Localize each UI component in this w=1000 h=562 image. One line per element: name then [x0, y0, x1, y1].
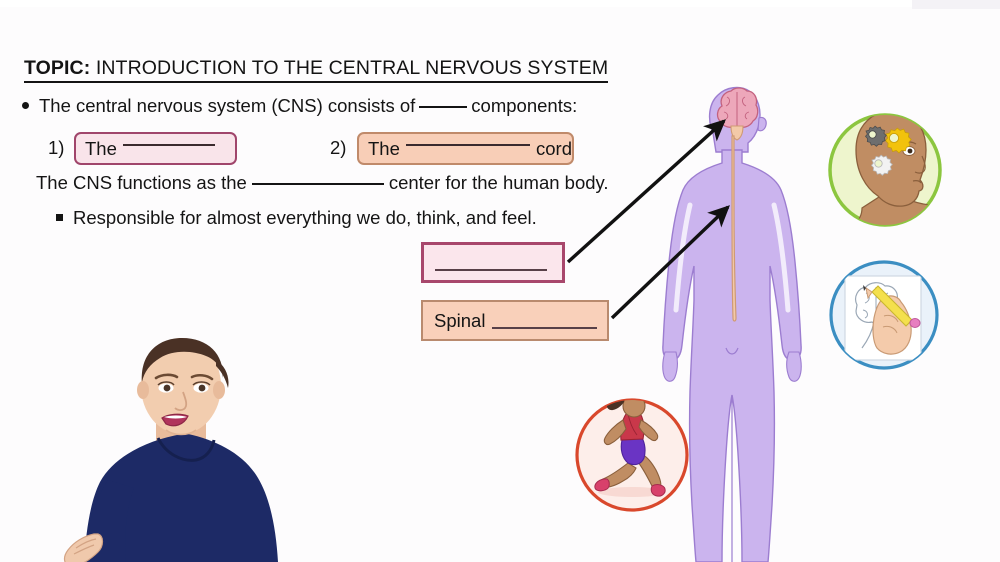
item-2-suffix: cord	[536, 138, 572, 160]
human-body-diagram	[663, 88, 802, 562]
item-1-number: 1)	[48, 137, 64, 159]
bullet-square-icon	[56, 214, 63, 221]
intro-text-before: The central nervous system (CNS) consist…	[39, 95, 415, 116]
instructor-video	[16, 330, 316, 562]
item-2-blank	[406, 144, 530, 146]
responsibility-text: Responsible for almost everything we do,…	[73, 207, 537, 228]
brain-callout-box[interactable]	[421, 242, 565, 283]
intro-bullet-line: The central nervous system (CNS) consist…	[22, 95, 577, 117]
spinal-cord-callout-box[interactable]: Spinal	[421, 300, 609, 341]
function-text-after: center for the human body.	[389, 172, 609, 193]
item-2-prefix: The	[368, 138, 400, 160]
thinking-head-gears-icon	[830, 111, 940, 232]
item-2-number: 2)	[330, 137, 346, 159]
brain-illustration	[718, 88, 758, 140]
page-title: TOPIC: INTRODUCTION TO THE CENTRAL NERVO…	[24, 57, 608, 83]
function-blank	[252, 183, 384, 185]
item-1-answer-box[interactable]: The	[74, 132, 237, 165]
top-white-bar	[0, 0, 1000, 7]
item-2-answer-box[interactable]: Thecord	[357, 132, 574, 165]
topic-title: INTRODUCTION TO THE CENTRAL NERVOUS SYST…	[96, 57, 608, 79]
spinal-callout-label: Spinal	[434, 310, 485, 332]
arrow-to-spinal-cord	[612, 207, 728, 318]
function-text-before: The CNS functions as the	[36, 172, 247, 193]
item-1-prefix: The	[85, 138, 117, 160]
spinal-callout-blank	[492, 327, 597, 329]
spinal-cord-illustration	[732, 136, 736, 321]
hand-drawing-brain-icon	[831, 262, 937, 368]
running-person-icon	[577, 391, 687, 510]
function-line: The CNS functions as thecenter for the h…	[36, 172, 609, 194]
top-right-chrome-strip	[912, 0, 1000, 9]
intro-text-after: components:	[471, 95, 577, 116]
brain-callout-blank	[435, 269, 547, 271]
item-1-blank	[123, 144, 215, 146]
responsibility-sub-bullet: Responsible for almost everything we do,…	[56, 207, 537, 229]
lecture-slide: TOPIC: INTRODUCTION TO THE CENTRAL NERVO…	[0, 0, 1000, 562]
bullet-dot-icon	[22, 102, 29, 109]
intro-blank	[419, 106, 467, 108]
topic-label: TOPIC:	[24, 57, 90, 79]
